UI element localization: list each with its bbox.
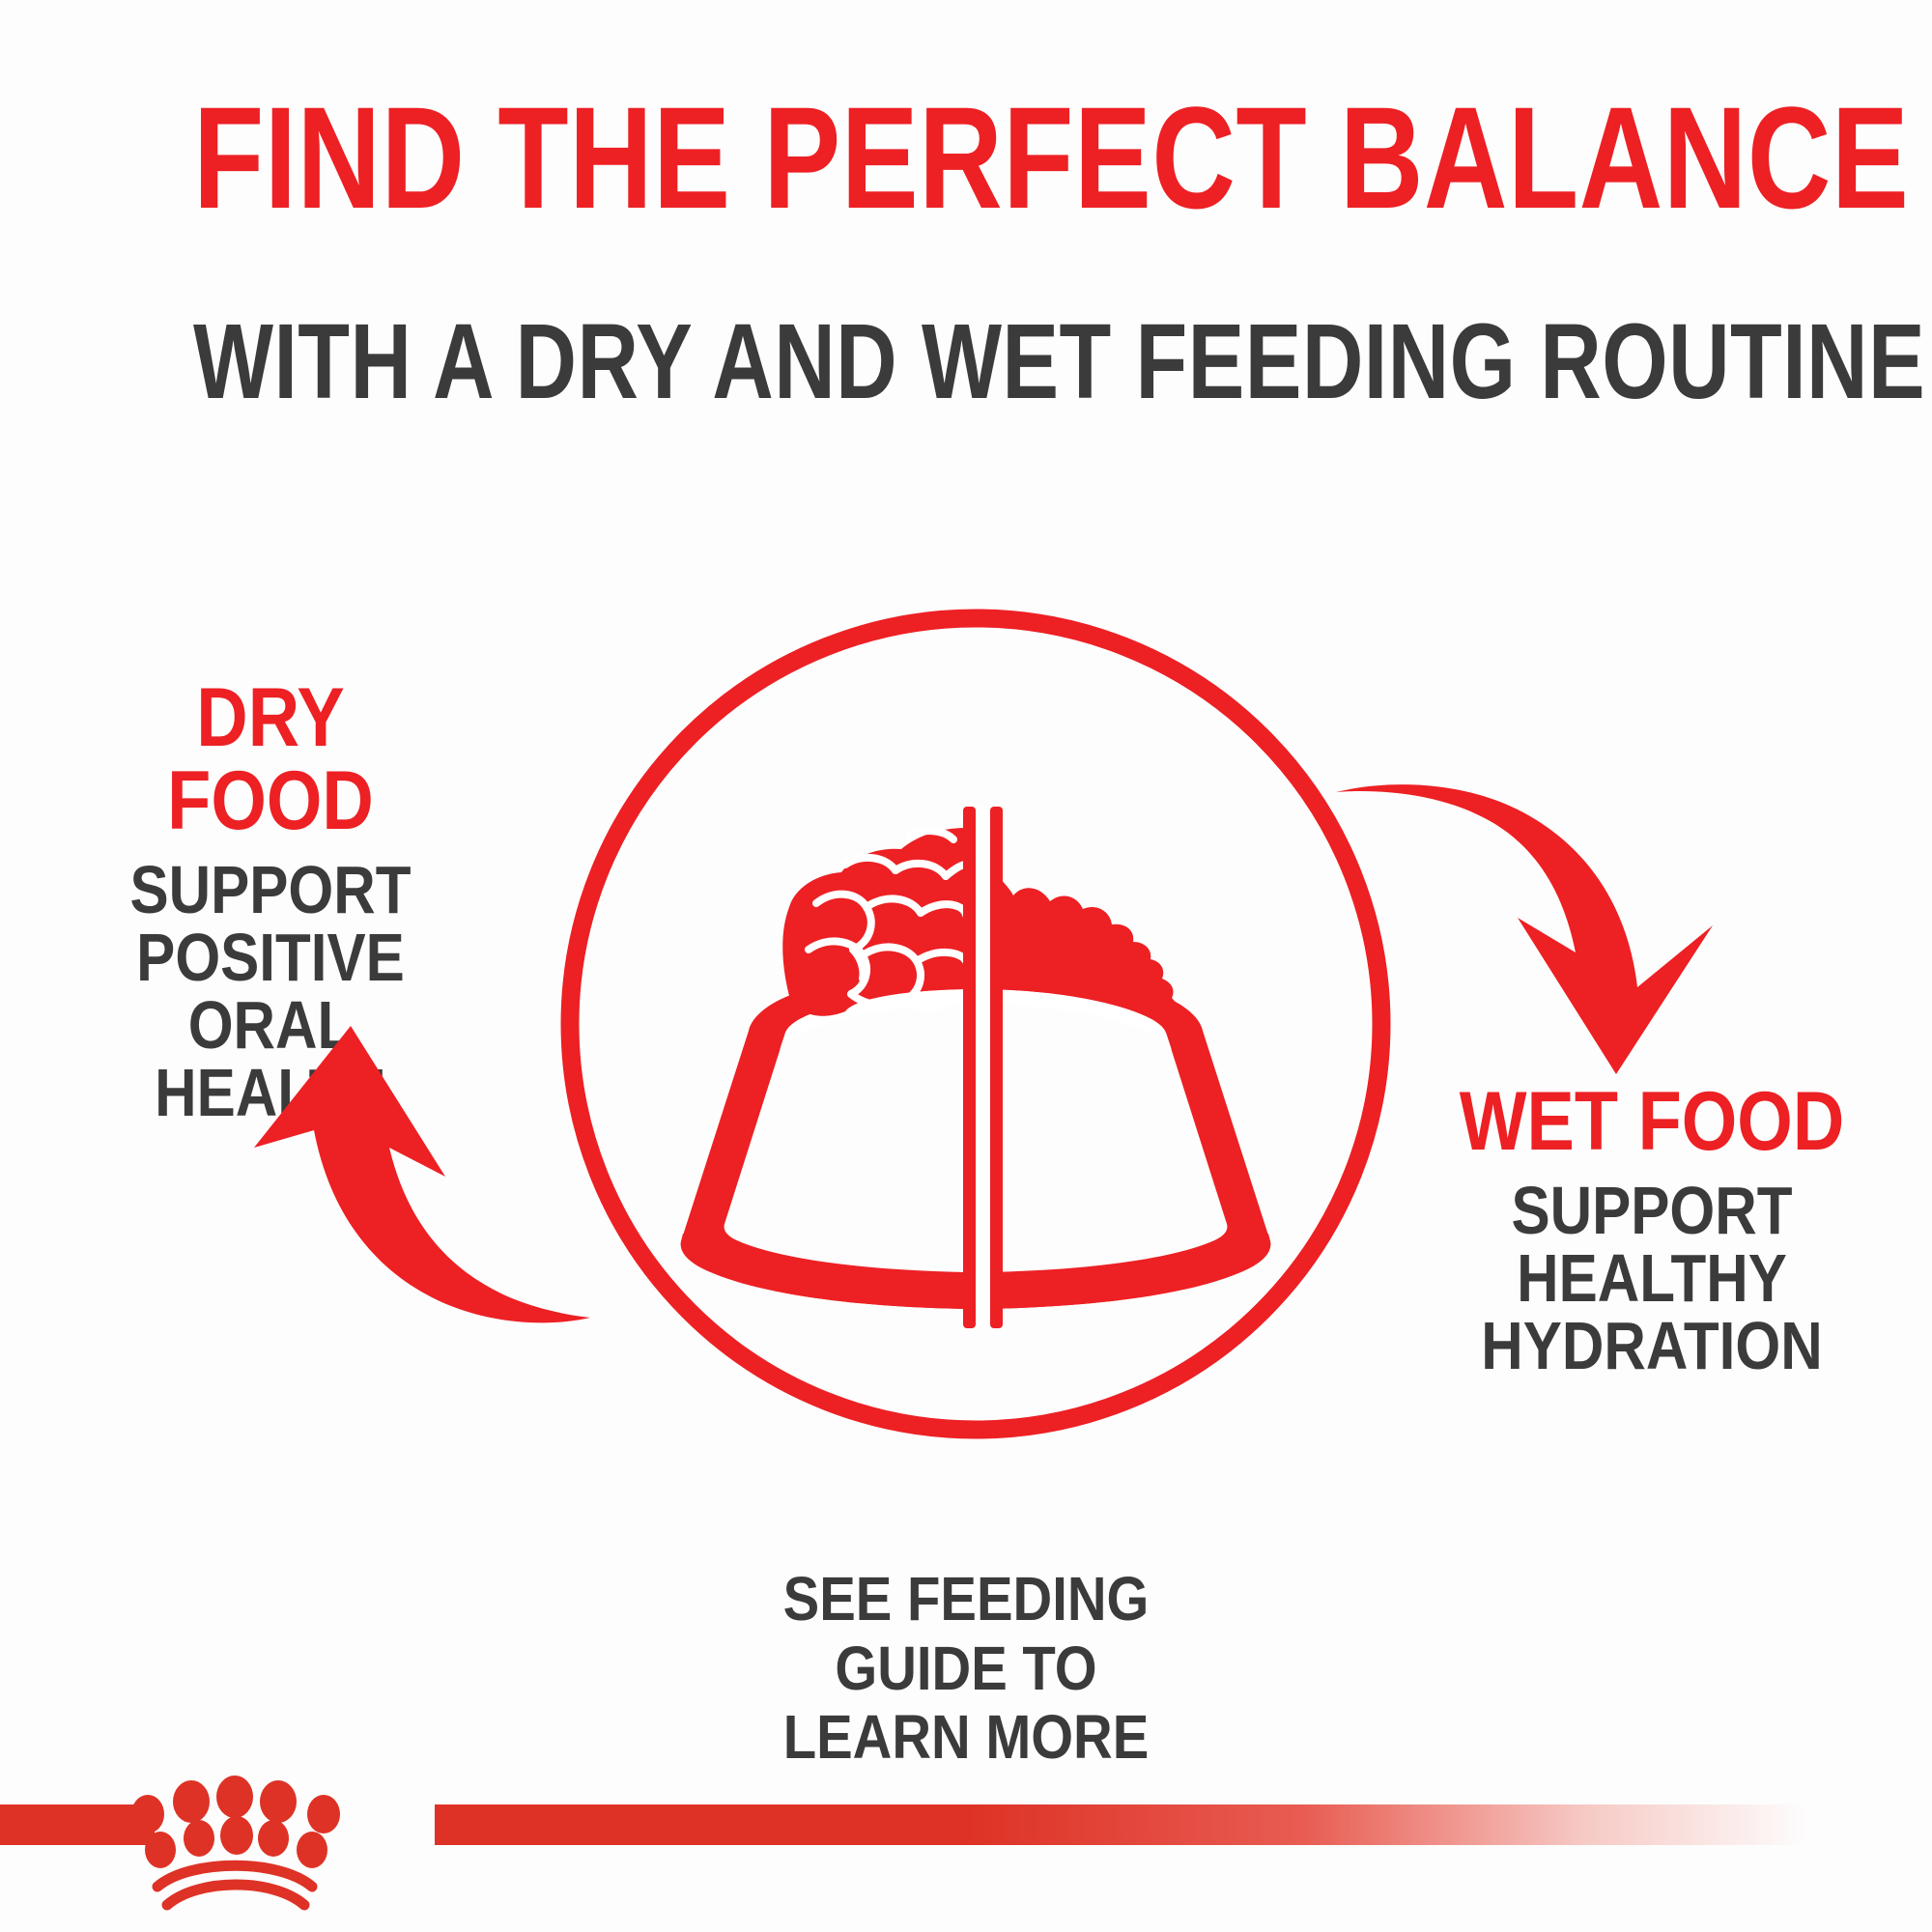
center-divider [963, 807, 1003, 1328]
wet-food-description: SUPPORT HEALTHY HYDRATION [1444, 1177, 1860, 1379]
wet-food-line-2: HYDRATION [1444, 1312, 1860, 1379]
page-subtitle: WITH A DRY AND WET FEEDING ROUTINE [193, 309, 1739, 415]
cta-line-2: GUIDE TO [711, 1634, 1221, 1704]
dry-food-heading: DRY FOOD [88, 676, 453, 842]
wet-food-line-1: SUPPORT HEALTHY [1444, 1177, 1860, 1312]
cta-line-3: LEARN MORE [711, 1703, 1221, 1773]
arrow-to-dry-food [188, 1005, 594, 1391]
cta-line-1: SEE FEEDING [711, 1565, 1221, 1634]
crown-dots-icon [131, 1776, 340, 1868]
footer-bar-right [435, 1804, 1835, 1845]
curved-arrow-down-right-icon [1336, 784, 1713, 1074]
page-title: FIND THE PERFECT BALANCE [193, 85, 1739, 230]
crown-arcs-icon [157, 1865, 312, 1905]
royal-canin-crown-logo [121, 1770, 353, 1915]
promo-panel: FIND THE PERFECT BALANCE WITH A DRY AND … [0, 0, 1932, 1932]
wet-food-block: WET FOOD SUPPORT HEALTHY HYDRATION [1410, 1080, 1893, 1379]
footer [0, 1787, 1932, 1932]
arrow-to-wet-food [1328, 734, 1734, 1121]
curved-arrow-up-left-icon [254, 1026, 590, 1322]
cta-text: SEE FEEDING GUIDE TO LEARN MORE [676, 1565, 1256, 1773]
dry-food-line-1: SUPPORT [88, 856, 453, 923]
split-bowl-graphic [526, 575, 1425, 1473]
